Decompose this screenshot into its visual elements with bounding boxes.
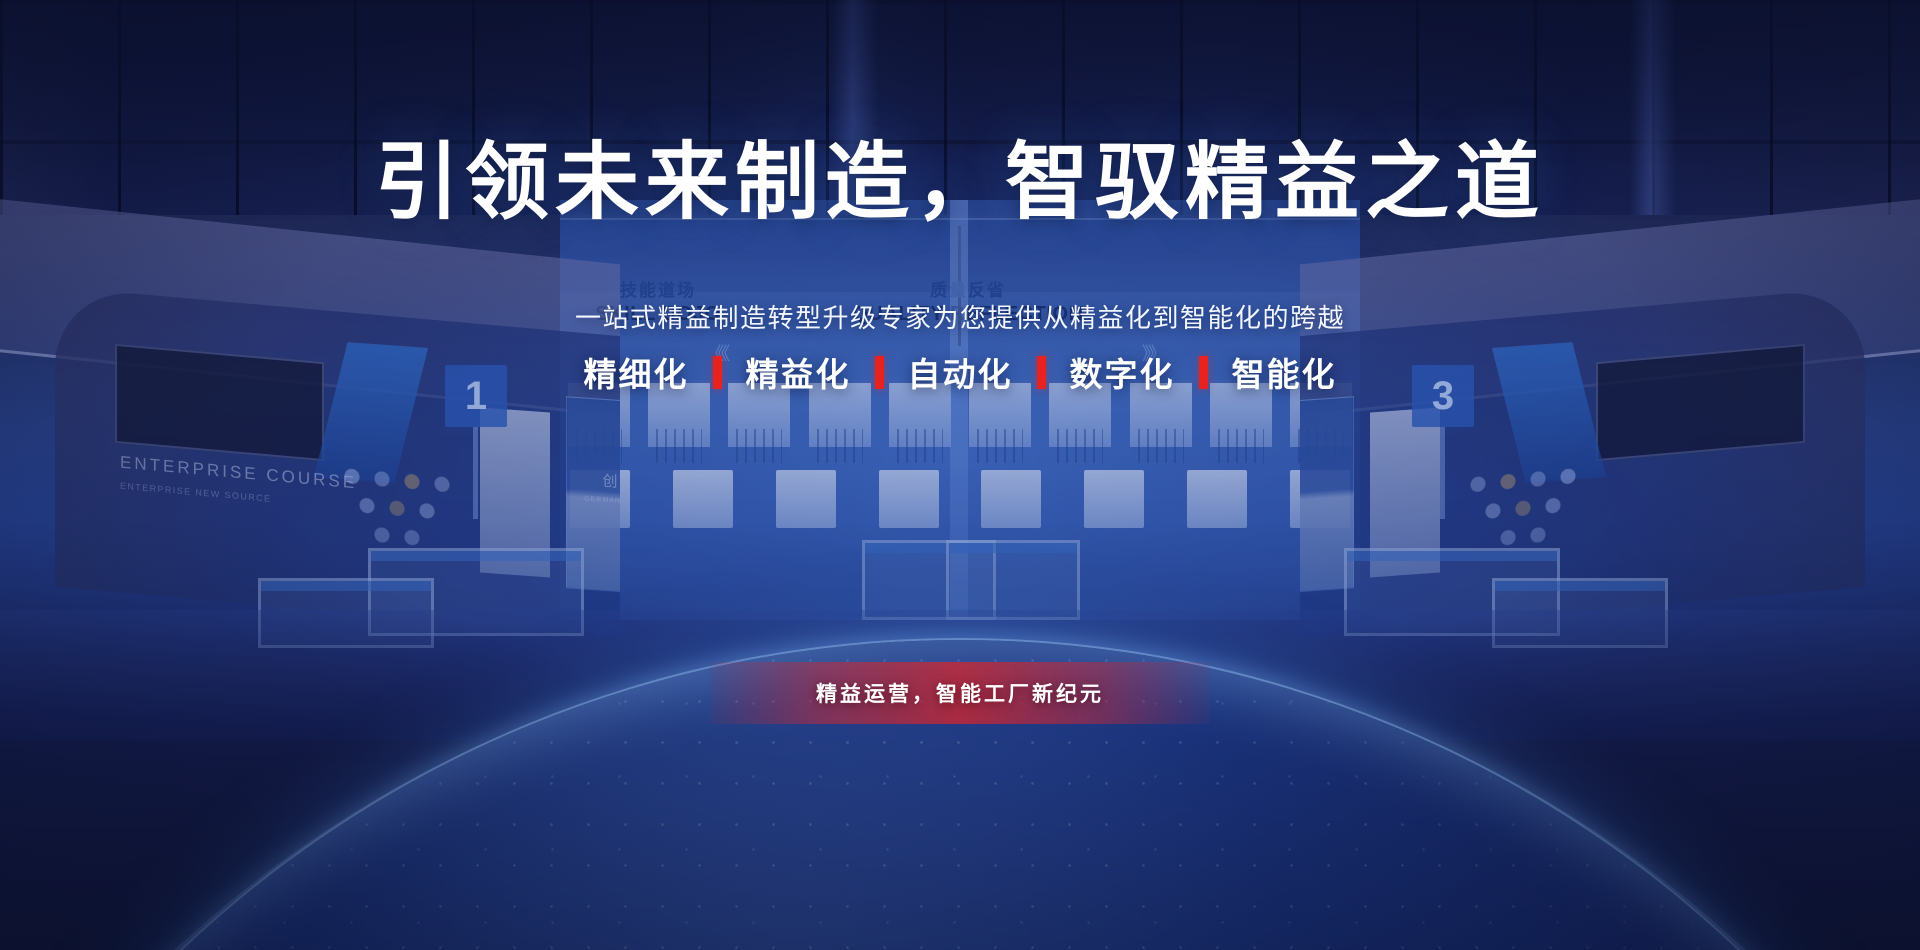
keyword-separator-icon: [875, 356, 884, 389]
hero-banner: 技能道场 SKILL DOJO 质量反省 QUALITY REFLECTION …: [0, 0, 1920, 950]
keyword-item: 数字化: [1046, 348, 1199, 396]
tagline-band: 精益运营，智能工厂新纪元: [710, 662, 1210, 724]
keyword-separator-icon: [1199, 356, 1208, 389]
keyword-item: 智能化: [1208, 348, 1361, 396]
banner-headline: 引领未来制造，智驭精益之道: [0, 140, 1920, 224]
keyword-item: 精细化: [560, 348, 713, 396]
keyword-item: 自动化: [884, 348, 1037, 396]
keyword-list: 精细化 精益化 自动化 数字化 智能化: [0, 348, 1920, 396]
tagline-wrap: 精益运营，智能工厂新纪元: [0, 662, 1920, 724]
banner-content: 引领未来制造，智驭精益之道 一站式精益制造转型升级专家为您提供从精益化到智能化的…: [0, 0, 1920, 950]
keyword-separator-icon: [713, 356, 722, 389]
tagline-text: 精益运营，智能工厂新纪元: [816, 678, 1104, 708]
keyword-item: 精益化: [722, 348, 875, 396]
keyword-separator-icon: [1037, 356, 1046, 389]
banner-subheadline: 一站式精益制造转型升级专家为您提供从精益化到智能化的跨越: [0, 298, 1920, 335]
